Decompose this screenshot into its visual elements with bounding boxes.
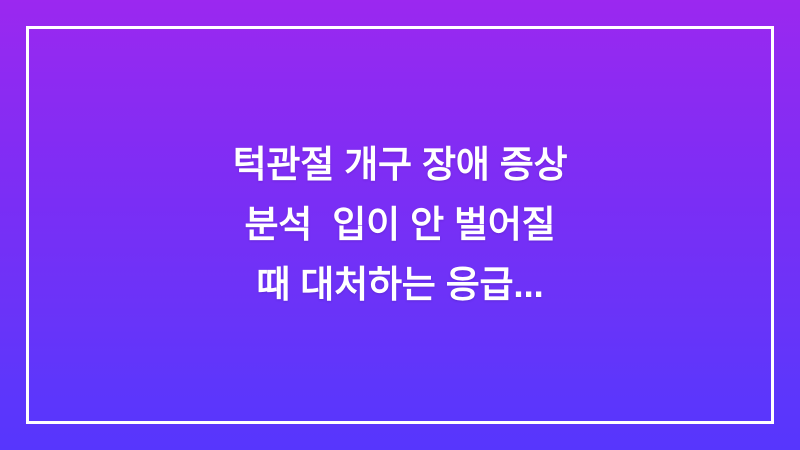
title-line-3: 때 대처하는 응급... [80, 255, 720, 315]
title-line-1: 턱관절 개구 장애 증상 [80, 135, 720, 195]
thumbnail-card: 턱관절 개구 장애 증상 분석 입이 안 벌어질 때 대처하는 응급... [0, 0, 800, 450]
page-title: 턱관절 개구 장애 증상 분석 입이 안 벌어질 때 대처하는 응급... [80, 135, 720, 315]
title-line-2: 분석 입이 안 벌어질 [80, 195, 720, 255]
